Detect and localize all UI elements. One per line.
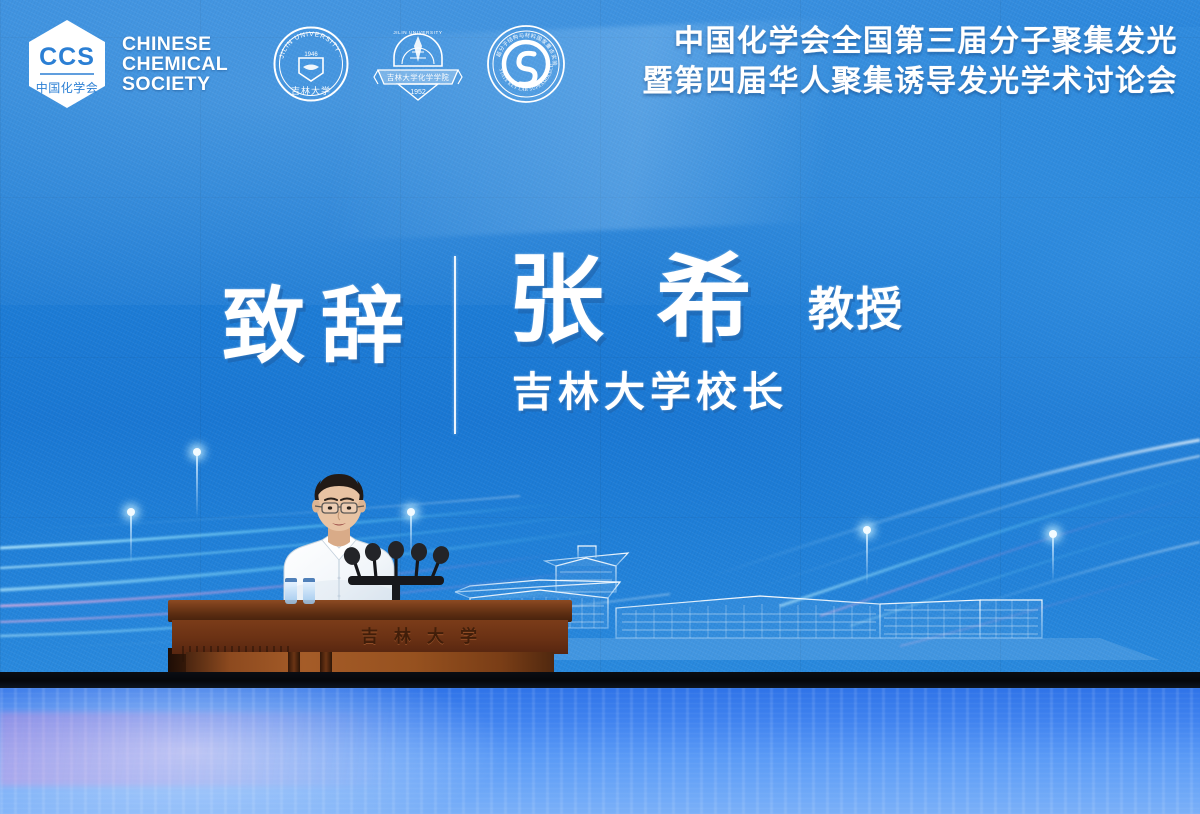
event-title-line-1: 中国化学会全国第三届分子聚集发光 — [643, 22, 1179, 62]
svg-text:1952: 1952 — [410, 89, 426, 96]
stage-floor — [0, 688, 1200, 814]
ccs-wordmark-line-1: CHINESE — [122, 34, 228, 54]
svg-text:JILIN UNIVERSITY: JILIN UNIVERSITY — [394, 30, 443, 35]
led-backdrop-screen: CCS 中国化学会 CHINESE CHEMICAL SOCIETY — [0, 0, 1200, 678]
ccs-wordmark-line-3: SOCIETY — [122, 74, 228, 94]
svg-text:吉林大学化学学院: 吉林大学化学学院 — [387, 73, 450, 82]
jilin-university-seal-icon: JILIN UNIVERSITY · CHINA 1946 吉林大学 — [272, 25, 350, 103]
podium-apron: 吉林大学 — [172, 620, 568, 654]
svg-text:CCS: CCS — [39, 43, 95, 71]
light-pole-icon — [866, 530, 868, 586]
headline-right-group: 张希 教授 吉林大学校长 — [508, 252, 904, 413]
speaker-honorific: 教授 — [808, 287, 904, 333]
headline-divider — [454, 256, 456, 434]
ccs-logo-lockup: CCS 中国化学会 CHINESE CHEMICAL SOCIETY — [26, 18, 228, 110]
sponsor-logo-bar: CCS 中国化学会 CHINESE CHEMICAL SOCIETY — [26, 18, 566, 110]
stage-front-edge — [0, 672, 1200, 688]
microphone-cluster — [330, 528, 480, 608]
headline-block: 致辞 张希 教授 吉林大学校长 — [222, 252, 904, 434]
ccs-hexagon-icon: CCS 中国化学会 — [26, 18, 108, 110]
light-pole-icon — [130, 512, 132, 564]
light-pole-icon — [1052, 534, 1054, 582]
ccs-wordmark: CHINESE CHEMICAL SOCIETY — [122, 34, 228, 95]
podium-engraved-text: 吉林大学 — [292, 626, 562, 648]
conference-stage-photo: CCS 中国化学会 CHINESE CHEMICAL SOCIETY — [0, 0, 1200, 814]
headline-label: 致辞 — [222, 286, 420, 369]
floor-pink-reflection — [0, 712, 552, 786]
college-of-chemistry-crest-icon: JILIN UNIVERSITY 吉林大学化学学院 1952 — [372, 22, 464, 106]
svg-text:吉林大学: 吉林大学 — [291, 85, 331, 96]
podium-top-surface — [168, 600, 572, 622]
event-title: 中国化学会全国第三届分子聚集发光 暨第四届华人聚集诱导发光学术讨论会 — [643, 22, 1179, 102]
light-pole-icon — [196, 452, 198, 518]
headline-name-line: 张希 教授 — [508, 252, 904, 350]
speaker-role: 吉林大学校长 — [512, 372, 904, 413]
water-bottle — [303, 578, 315, 604]
svg-text:中国化学会: 中国化学会 — [36, 80, 99, 95]
state-key-laboratory-seal-icon: 超分子结构与材料国家重点实验室 STATE KEY LAB SUPRAMOLEC… — [486, 24, 566, 104]
speaker-name: 张希 — [508, 252, 804, 350]
ccs-wordmark-line-2: CHEMICAL — [122, 54, 228, 74]
event-title-line-2: 暨第四届华人聚集诱导发光学术讨论会 — [643, 62, 1179, 102]
water-bottle — [285, 578, 297, 604]
svg-text:1946: 1946 — [304, 52, 318, 58]
